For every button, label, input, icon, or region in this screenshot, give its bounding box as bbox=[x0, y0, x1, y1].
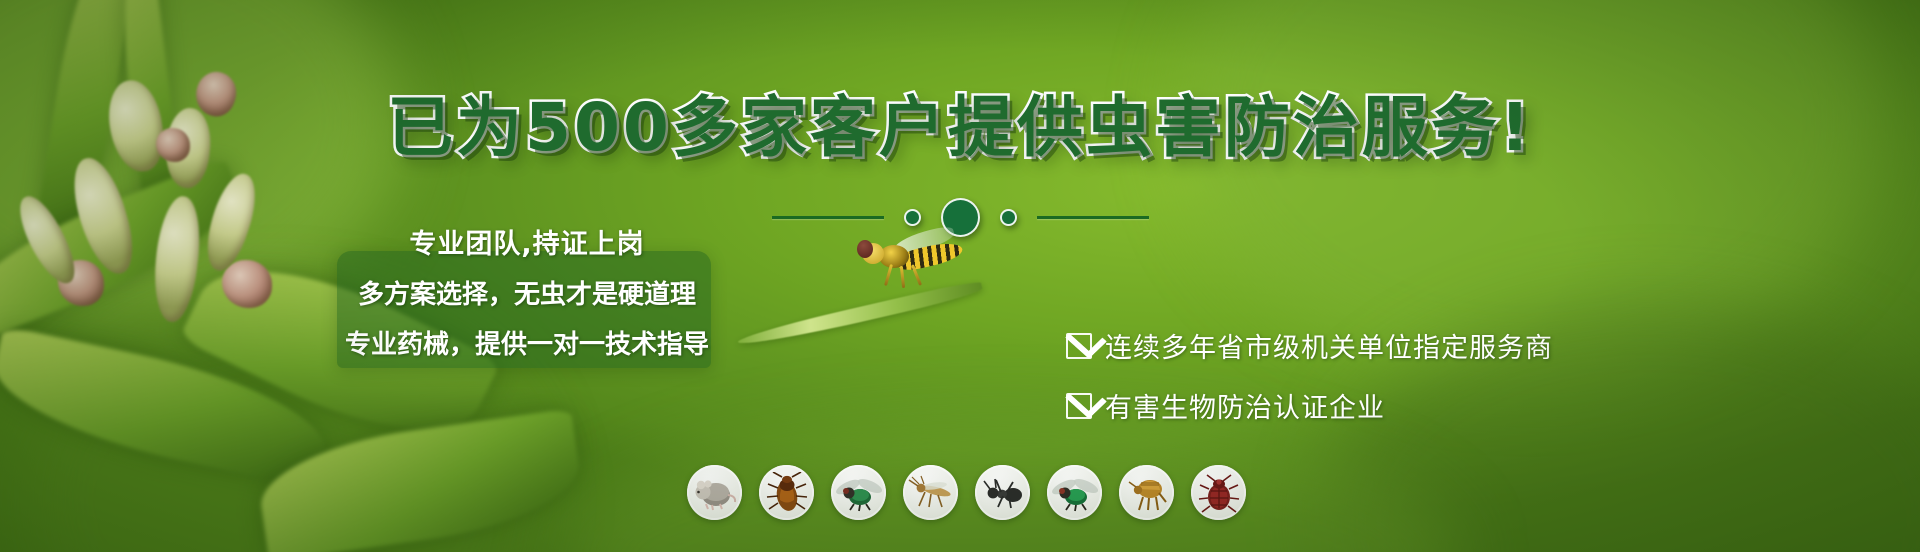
vignette-overlay bbox=[0, 0, 1920, 552]
promo-banner: 已为500多家客户提供虫害防治服务! 专业团队,持证上岗 多方案选择，无虫才是硬… bbox=[0, 0, 1920, 552]
